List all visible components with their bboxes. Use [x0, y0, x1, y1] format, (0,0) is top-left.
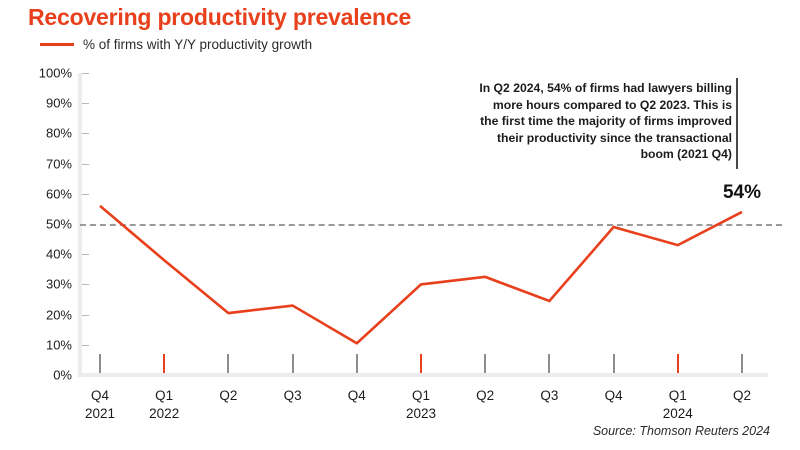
x-axis-quarter-label: Q4 — [348, 388, 366, 403]
y-axis-tick-label: 20% — [12, 307, 72, 322]
x-axis-quarter-label: Q2 — [219, 388, 237, 403]
y-axis-tick-label: 90% — [12, 96, 72, 111]
legend-line-swatch — [40, 43, 74, 46]
x-axis-quarter-label: Q4 — [605, 388, 623, 403]
x-axis-year-label: 2023 — [406, 406, 436, 421]
x-axis-quarter-label: Q2 — [733, 388, 751, 403]
annotation-vertical-rule — [736, 78, 738, 169]
series-polyline — [100, 206, 742, 343]
y-axis-tick-label: 50% — [12, 217, 72, 232]
x-axis-quarter-label: Q1 — [669, 388, 687, 403]
y-axis-tick-label: 40% — [12, 247, 72, 262]
x-axis-quarter-label: Q4 — [91, 388, 109, 403]
y-axis-tick-label: 100% — [12, 66, 72, 81]
source-note: Source: Thomson Reuters 2024 — [593, 424, 770, 438]
x-axis-quarter-label: Q3 — [540, 388, 558, 403]
end-value-label: 54% — [723, 182, 761, 204]
y-axis-tick-label: 0% — [12, 368, 72, 383]
y-axis-tick-label: 30% — [12, 277, 72, 292]
chart-legend: % of firms with Y/Y productivity growth — [40, 37, 312, 52]
y-axis-tick-label: 10% — [12, 337, 72, 352]
page-title: Recovering productivity prevalence — [28, 4, 411, 31]
callout-annotation: In Q2 2024, 54% of firms had lawyers bil… — [474, 80, 732, 163]
x-axis-quarter-label: Q2 — [476, 388, 494, 403]
y-axis-tick-label: 60% — [12, 186, 72, 201]
x-axis-year-label: 2022 — [149, 406, 179, 421]
y-axis-tick-label: 80% — [12, 126, 72, 141]
y-axis-tick-label: 70% — [12, 156, 72, 171]
x-axis-year-label: 2024 — [663, 406, 693, 421]
x-axis-year-label: 2021 — [85, 406, 115, 421]
x-axis-quarter-label: Q1 — [155, 388, 173, 403]
x-axis-quarter-label: Q1 — [412, 388, 430, 403]
legend-item-label: % of firms with Y/Y productivity growth — [83, 37, 312, 52]
chart-root: Recovering productivity prevalence % of … — [0, 0, 800, 450]
x-axis-quarter-label: Q3 — [284, 388, 302, 403]
